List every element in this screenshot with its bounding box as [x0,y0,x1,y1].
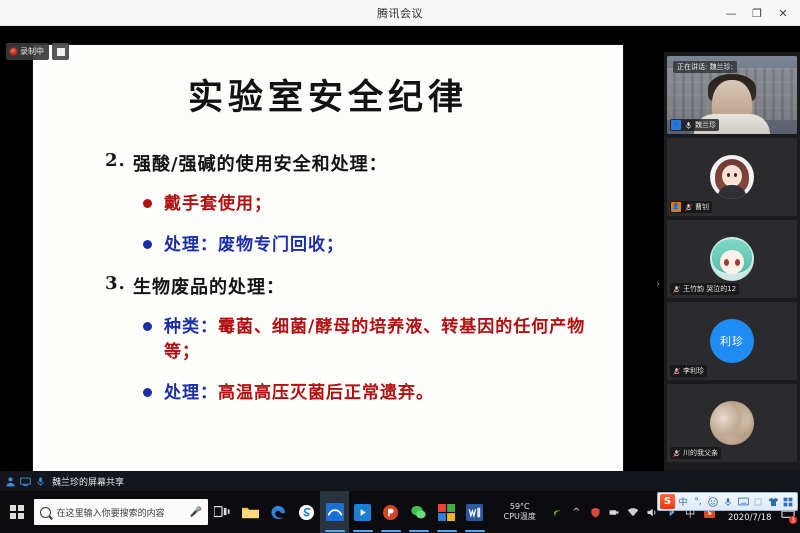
close-button[interactable]: ✕ [770,1,796,25]
ime-toolbox-icon[interactable] [781,494,795,509]
screen-share-label: 魏兰珍的屏幕共享 [52,475,124,488]
meeting-stage: 录制中 实验室安全纪律 2. 强酸/强碱的使用安全和处理： 戴手套使用； [0,26,800,491]
participant-name: 曹钊 [695,202,709,212]
recording-pill: 录制中 [6,43,49,60]
avatar [710,237,754,281]
avatar-eye-right [735,259,740,266]
cpu-temperature-widget[interactable]: 59°C CPU温度 [497,502,543,522]
bullet-rest: 高温高压灭菌后正常遗弃。 [218,383,434,403]
ime-skin-icon[interactable] [766,494,780,509]
bullet-dot-icon [143,388,152,397]
minimize-button[interactable]: — [718,1,744,25]
sogou-ime-toolbar[interactable]: S 中 °, [657,492,798,511]
bullet-text: 处理：废物专门回收； [164,233,344,258]
avatar: 利珍 [710,319,754,363]
slide-numbered-item-3: 3. 生物废品的处理： [105,273,613,299]
slide-title: 实验室安全纪律 [33,69,623,120]
avatar [710,401,754,445]
tencent-meeting-taskbar-icon[interactable] [320,491,348,533]
item-index: 2. [105,150,121,171]
windows-logo-icon [10,505,24,519]
slide-bullet: 处理：废物专门回收； [143,233,613,258]
ime-screenshot-icon[interactable] [751,494,765,509]
item-text: 生物废品的处理： [133,273,285,299]
participant-tile[interactable]: 利珍 李利珍 [667,302,797,380]
search-icon [40,507,51,518]
wechat-icon[interactable] [405,491,433,533]
slide-bullet: 处理：高温高压灭菌后正常遗弃。 [143,381,613,406]
participant-rail: › 正在讲话: 魏兰珍: 👤 [664,52,800,517]
participants-icon[interactable] [5,476,16,487]
ime-voice-input-icon[interactable] [721,494,735,509]
microphone-muted-icon [671,366,681,376]
participant-tile[interactable]: 👤 曹钊 [667,138,797,216]
ime-keyboard-icon[interactable] [736,494,750,509]
stop-square-icon [57,48,65,56]
avatar-face-shape [722,165,742,187]
maximize-button[interactable]: ❐ [744,1,770,25]
recording-dot-icon [10,48,17,55]
show-hidden-icons-chevron-icon[interactable]: ^ [568,491,585,533]
shared-screen-slide: 实验室安全纪律 2. 强酸/强碱的使用安全和处理： 戴手套使用； 处理：废物专门… [33,45,623,485]
participant-name: 李利珍 [683,366,704,376]
recording-indicator: 录制中 [6,43,69,60]
slide-bullet: 种类：霉菌、细菌/酵母的培养液、转基因的任何产物等； [143,315,613,364]
ime-chinese-mode-icon[interactable]: 中 [676,494,690,509]
bullet-rest: 霉菌、细菌/酵母的培养液、转基因的任何产物等； [164,317,585,362]
participant-tile[interactable]: 正在讲话: 魏兰珍: 👤 魏兰珍 [667,56,797,134]
window-controls: — ❐ ✕ [718,0,796,26]
colorful-app-icon[interactable] [433,491,461,533]
slide-numbered-item-2: 2. 强酸/强碱的使用安全和处理： [105,150,613,176]
cohost-icon: 👤 [671,202,681,212]
bullet-lead: 种类： [164,317,218,337]
bullet-text: 处理：高温高压灭菌后正常遗弃。 [164,381,434,406]
participant-name: 王竹韵 哭泣的12 [683,284,736,294]
security-shield-icon[interactable] [587,491,604,533]
sogou-browser-icon[interactable] [292,491,320,533]
cpu-temperature-value: 59°C [497,502,543,512]
network-icon[interactable] [625,491,642,533]
item-index: 3. [105,273,121,294]
edge-browser-icon[interactable] [264,491,292,533]
avatar-eye-left [727,173,730,177]
screen-share-icon[interactable] [20,476,31,487]
app-title: 腾讯会议 [377,5,423,21]
slide-body: 2. 强酸/强碱的使用安全和处理： 戴手套使用； 处理：废物专门回收； 3. 生… [33,150,623,405]
ime-emoji-icon[interactable] [706,494,720,509]
avatar [710,155,754,199]
microphone-icon[interactable] [35,476,46,487]
participant-tile[interactable]: 川的我父亲 [667,384,797,462]
participant-name-badge: 👤 魏兰珍 [670,119,719,131]
stop-recording-button[interactable] [52,43,69,60]
participant-name-badge: 王竹韵 哭泣的12 [670,283,739,295]
participant-name-badge: 川的我父亲 [670,447,721,459]
bullet-dot-icon [143,199,152,208]
participant-tile[interactable]: 王竹韵 哭泣的12 [667,220,797,298]
avatar-eye-right [734,173,737,177]
sogou-logo-icon[interactable]: S [660,494,675,509]
title-bar: 腾讯会议 — ❐ ✕ [0,0,800,26]
participant-name-badge: 👤 曹钊 [670,201,712,213]
participant-name-badge: 李利珍 [670,365,707,377]
bullet-dot-icon [143,322,152,331]
bullet-text: 戴手套使用； [164,192,272,217]
powerpoint-icon[interactable] [377,491,405,533]
notification-count-badge: 3 [789,516,797,524]
bullet-lead: 处理： [164,383,218,403]
usb-device-icon[interactable] [606,491,623,533]
microphone-muted-icon [683,120,693,130]
nvidia-icon[interactable] [549,491,566,533]
recording-label: 录制中 [20,46,44,57]
app-window: 腾讯会议 — ❐ ✕ 录制中 实验室安全纪律 2. 强酸/强碱的使用安全和 [0,0,800,533]
cortana-microphone-icon[interactable]: 🎤 [190,507,202,518]
participant-name: 川的我父亲 [683,448,718,458]
clock-date: 2020/7/18 [724,512,776,524]
word-icon[interactable] [461,491,489,533]
start-button[interactable] [0,491,34,533]
slide-bullet: 戴手套使用； [143,192,613,217]
participant-name: 魏兰珍 [695,120,716,130]
file-explorer-icon[interactable] [236,491,264,533]
microphone-muted-icon [683,202,693,212]
task-view-button[interactable] [208,491,236,533]
host-icon: 👤 [671,120,681,130]
bullet-dot-icon [143,240,152,249]
screen-share-status-bar: 魏兰珍的屏幕共享 [0,471,800,491]
collapse-rail-chevron-icon[interactable]: › [652,262,664,308]
avatar-initials: 利珍 [720,333,744,349]
avatar-eye-left [724,259,729,266]
media-player-icon[interactable] [349,491,377,533]
speaking-badge: 正在讲话: 魏兰珍: [673,61,737,73]
bullet-text: 种类：霉菌、细菌/酵母的培养液、转基因的任何产物等； [164,315,613,364]
search-placeholder: 在这里输入你要搜索的内容 [57,506,184,519]
microphone-muted-icon [671,448,681,458]
item-text: 强酸/强碱的使用安全和处理： [133,150,388,176]
search-input[interactable]: 在这里输入你要搜索的内容 🎤 [34,499,209,525]
ime-punctuation-icon[interactable]: °, [691,494,705,509]
microphone-muted-icon [671,284,681,294]
cpu-temperature-label: CPU温度 [497,512,543,522]
